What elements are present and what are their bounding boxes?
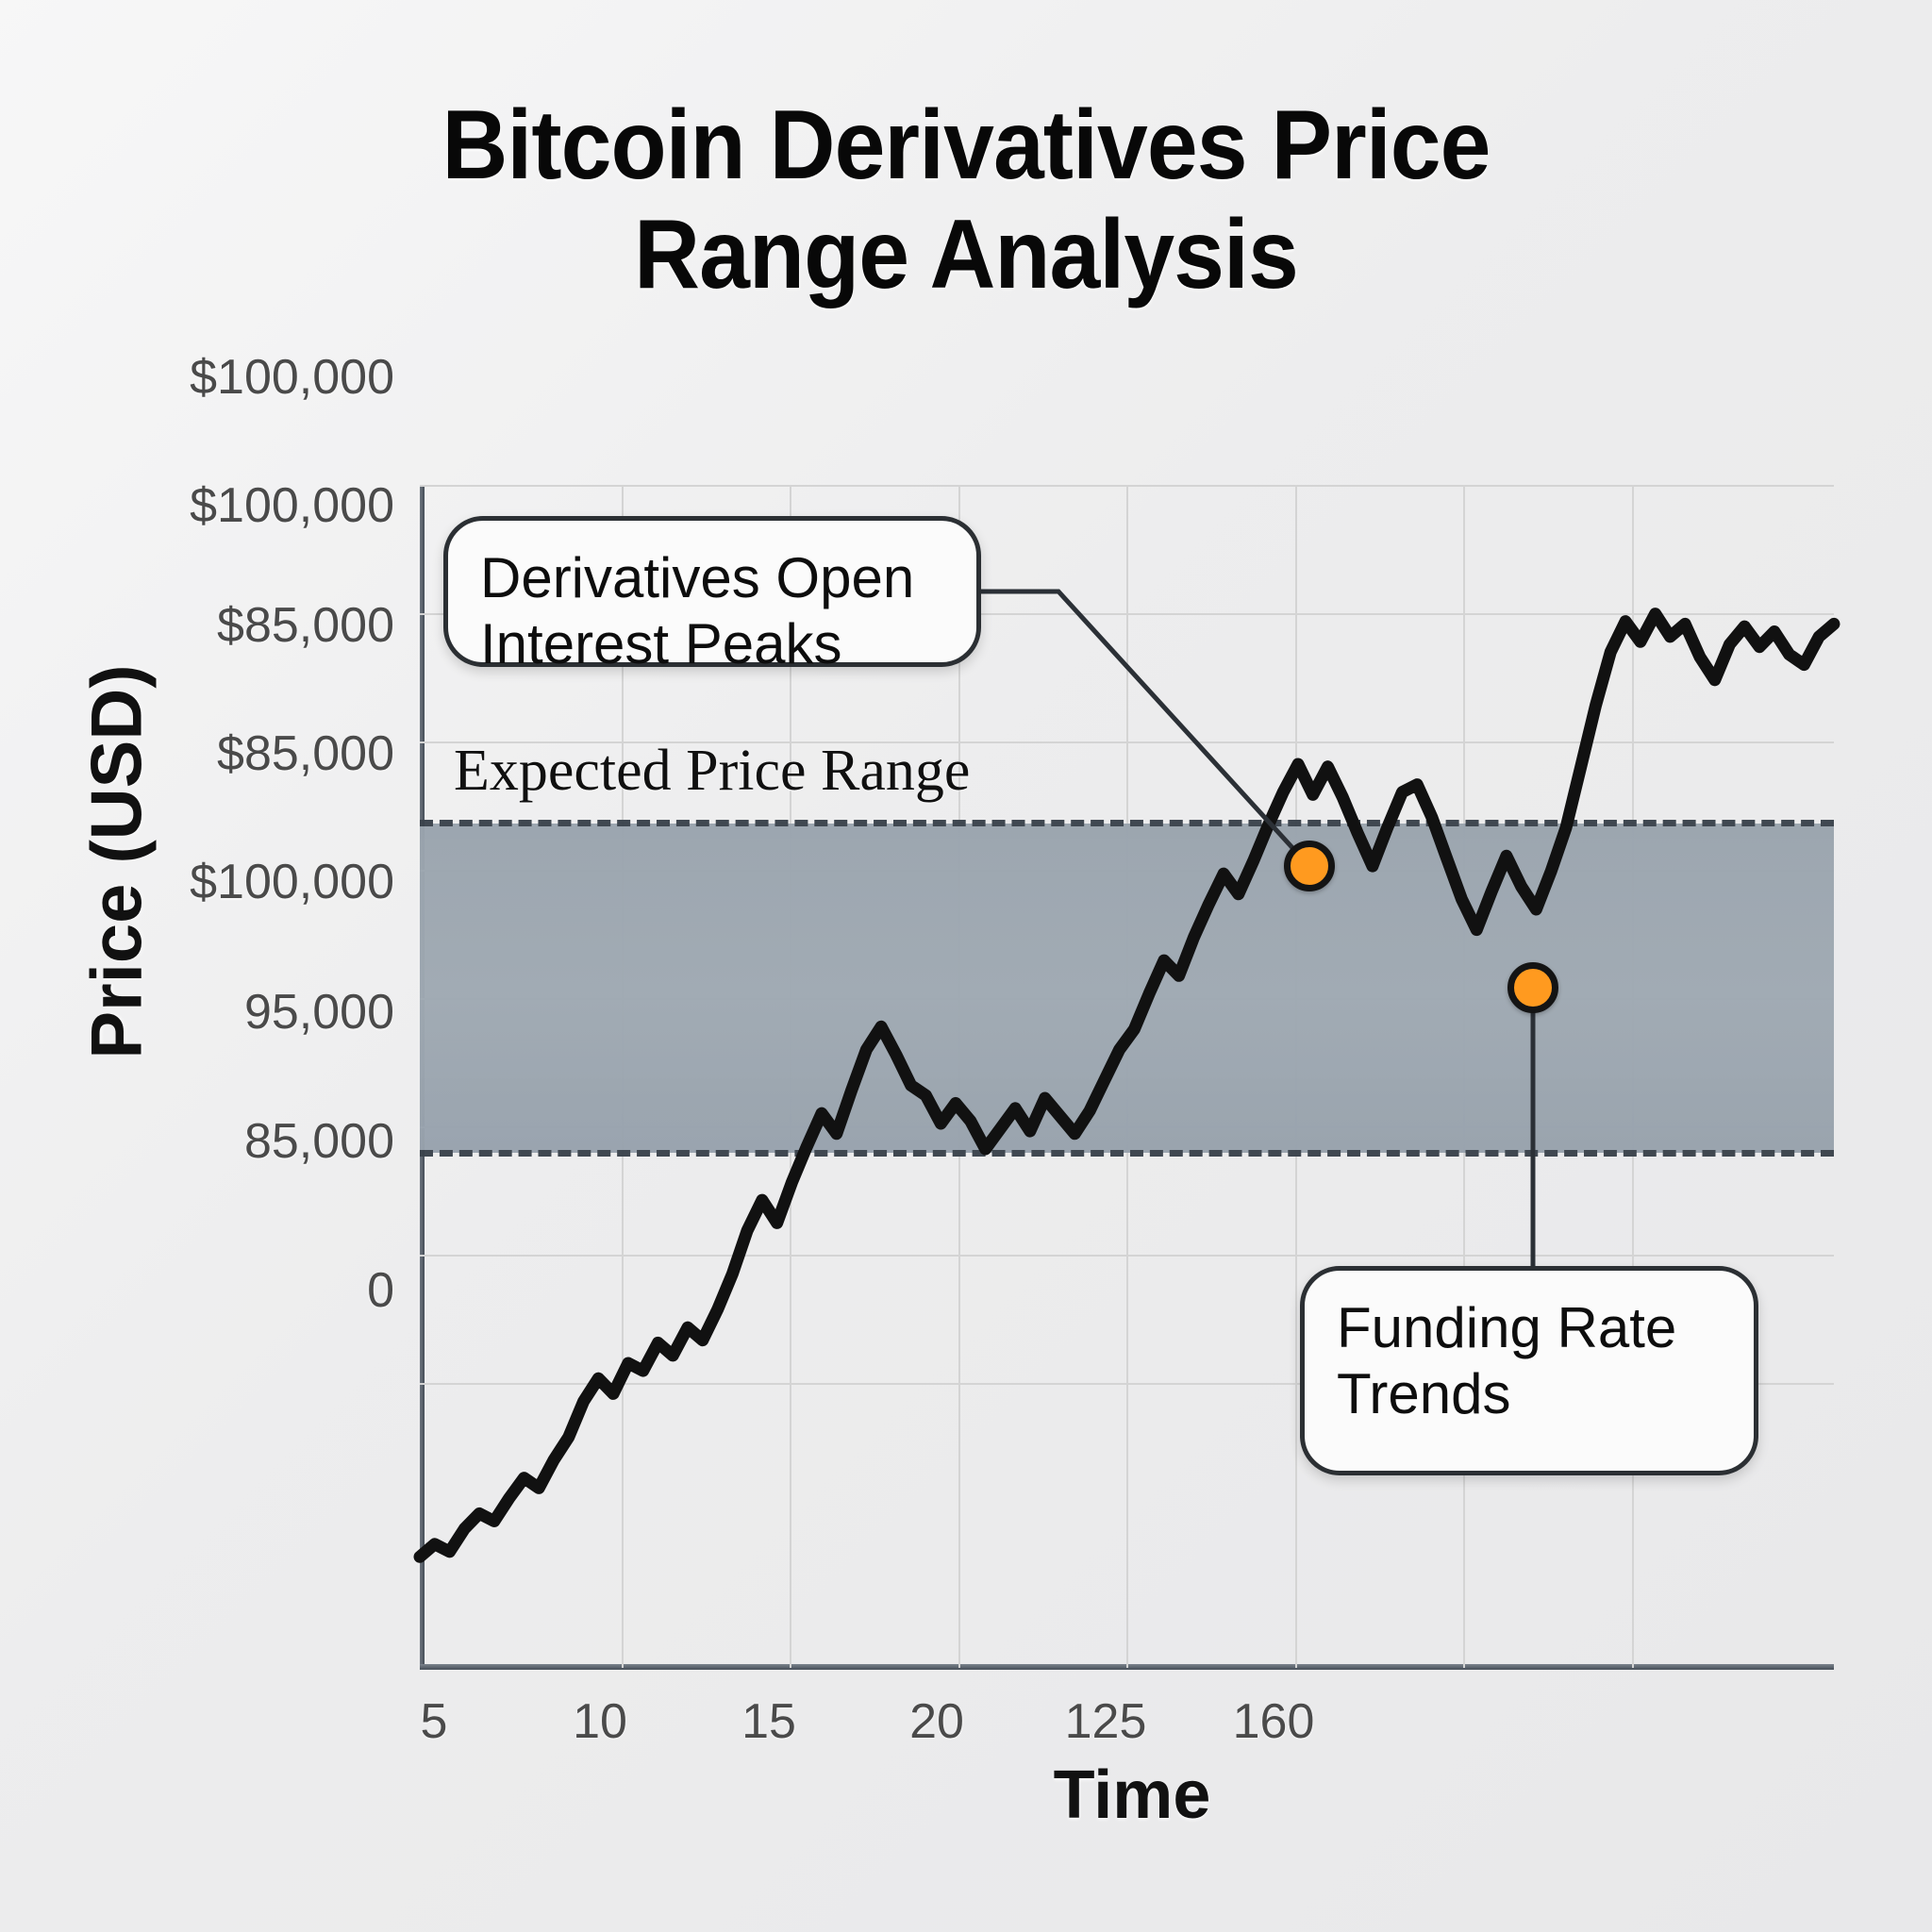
callout-funding-rate-trends[interactable]: Funding Rate Trends	[1300, 1266, 1758, 1475]
x-tick-label: 160	[1198, 1693, 1349, 1750]
gridline-horizontal	[420, 485, 1834, 487]
expected-price-range-band	[420, 824, 1834, 1153]
chart-figure: Bitcoin Derivatives Price Range Analysis…	[0, 0, 1932, 1932]
gridline-horizontal	[420, 1255, 1834, 1257]
expected-price-range-label: Expected Price Range	[454, 738, 970, 805]
x-tick-label: 20	[861, 1693, 1012, 1750]
marker-funding-rate[interactable]	[1507, 962, 1558, 1013]
band-upper-edge	[420, 820, 1834, 826]
band-lower-edge	[420, 1150, 1834, 1157]
x-tick-label: 15	[693, 1693, 844, 1750]
x-tick-label: 10	[525, 1693, 675, 1750]
marker-open-interest-peak[interactable]	[1284, 841, 1335, 891]
x-tick-label: 5	[358, 1693, 509, 1750]
x-tick-label: 125	[1030, 1693, 1181, 1750]
callout-derivatives-open-interest-peaks[interactable]: Derivatives Open Interest Peaks	[443, 516, 981, 667]
